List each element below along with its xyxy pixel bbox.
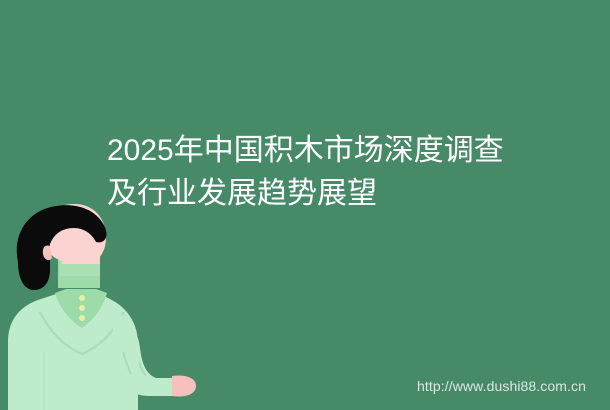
poster-canvas: 2025年中国积木市场深度调查 及行业发展趋势展望 http://www.dus…: [0, 0, 610, 410]
arm-shape: [112, 310, 178, 396]
title-line-2: 及行业发展趋势展望: [107, 172, 507, 215]
person-looking-up-illustration: [0, 200, 240, 410]
page-title: 2025年中国积木市场深度调查 及行业发展趋势展望: [107, 129, 507, 215]
title-line-1: 2025年中国积木市场深度调查: [107, 129, 507, 172]
watermark-url: http://www.dushi88.com.cn: [417, 377, 586, 395]
collar-buttons: [79, 295, 85, 321]
hand-shape: [172, 375, 196, 396]
